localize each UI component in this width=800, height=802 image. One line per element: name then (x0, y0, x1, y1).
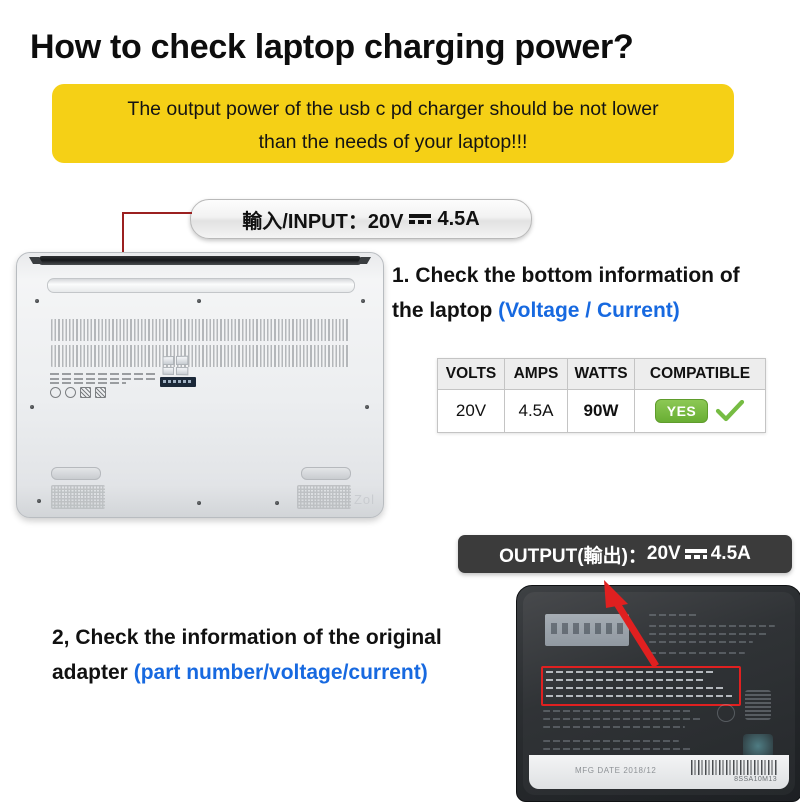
laptop-screw (197, 299, 201, 303)
laptop-screw (30, 405, 34, 409)
laptop-vent-upper (51, 319, 349, 341)
windows-sticker-bar (160, 377, 196, 387)
cell-amps: 4.5A (505, 390, 568, 433)
table-header-compatible: COMPATIBLE (635, 359, 766, 390)
output-spec-text: OUTPUT(輸出)： 20V 4.5A (499, 541, 751, 568)
laptop-screw (197, 501, 201, 505)
laptop-bottom-image: Zol (16, 252, 384, 518)
step-2-line-2-blue: (part number/voltage/current) (134, 661, 428, 684)
laptop-rubber-foot (51, 467, 101, 480)
table-header-row: VOLTS AMPS WATTS COMPATIBLE (438, 359, 766, 390)
windows-logo-icon (162, 356, 188, 376)
windows-sticker (160, 356, 198, 389)
adapter-bottom-strip: MFG DATE 2018/12 8SSA10M13 (529, 755, 789, 789)
laptop-speaker-grille (297, 485, 351, 509)
step-2-text: 2, Check the information of the original… (52, 620, 512, 690)
output-spec-voltage: 20V (647, 543, 681, 565)
laptop-hinge-right (357, 257, 371, 264)
adapter-marking-chip (745, 690, 771, 720)
output-spec-badge: OUTPUT(輸出)： 20V 4.5A (458, 535, 792, 573)
callout-line-2: than the needs of your laptop!!! (52, 131, 734, 154)
image-watermark: Zol (354, 492, 375, 507)
adapter-mfg-date: MFG DATE 2018/12 (575, 766, 656, 775)
step-1-line-2-black: the laptop (392, 299, 498, 322)
callout-line-1: The output power of the usb c pd charger… (52, 98, 734, 121)
input-spec-badge: 輸入/INPUT：20V 4.5A (190, 199, 532, 239)
laptop-rubber-foot (301, 467, 351, 480)
green-check-icon (715, 400, 745, 422)
callout-banner: The output power of the usb c pd charger… (52, 84, 734, 163)
laptop-regulatory-icons (50, 387, 106, 398)
laptop-recessed-strip (47, 278, 355, 293)
dc-current-icon (685, 547, 707, 561)
output-spec-current: 4.5A (711, 543, 751, 565)
adapter-label-highlight-box (541, 666, 741, 706)
laptop-speaker-grille (51, 485, 105, 509)
input-spec-prefix: 輸入/INPUT：20V (242, 205, 403, 234)
output-spec-prefix: OUTPUT(輸出)： (499, 541, 647, 568)
table-header-watts: WATTS (568, 359, 635, 390)
input-spec-text: 輸入/INPUT：20V 4.5A (242, 205, 479, 234)
laptop-screw (35, 299, 39, 303)
red-arrow-icon (598, 578, 662, 670)
laptop-hinge-bar (39, 256, 361, 265)
compatibility-table: VOLTS AMPS WATTS COMPATIBLE 20V 4.5A 90W… (437, 358, 766, 433)
laptop-screw (361, 299, 365, 303)
leader-line-horizontal (122, 212, 192, 214)
input-spec-suffix: 4.5A (437, 208, 479, 231)
cell-volts: 20V (438, 390, 505, 433)
dc-current-icon (409, 212, 431, 226)
cell-compatible: YES (635, 390, 766, 433)
step-1-line-2-blue: (Voltage / Current) (498, 299, 680, 322)
laptop-screw (37, 499, 41, 503)
table-header-volts: VOLTS (438, 359, 505, 390)
step-2-line-1: 2, Check the information of the original (52, 620, 512, 655)
step-2-line-2: adapter (part number/voltage/current) (52, 655, 512, 690)
step-2-line-2-black: adapter (52, 661, 134, 684)
laptop-screw (275, 501, 279, 505)
step-1-line-2: the laptop (Voltage / Current) (392, 293, 792, 328)
adapter-marking-circle (717, 704, 735, 722)
laptop-vent-lower (51, 345, 349, 367)
yes-badge: YES (655, 399, 709, 423)
adapter-barcode-text: 8SSA10M13 (734, 776, 777, 783)
laptop-regulatory-text (50, 373, 156, 387)
laptop-screw (365, 405, 369, 409)
step-1-text: 1. Check the bottom information of the l… (392, 258, 792, 328)
table-header-amps: AMPS (505, 359, 568, 390)
page-title: How to check laptop charging power? (30, 28, 790, 67)
table-row: 20V 4.5A 90W YES (438, 390, 766, 433)
cell-watts: 90W (568, 390, 635, 433)
adapter-barcode (691, 760, 777, 775)
step-1-line-1: 1. Check the bottom information of (392, 258, 792, 293)
